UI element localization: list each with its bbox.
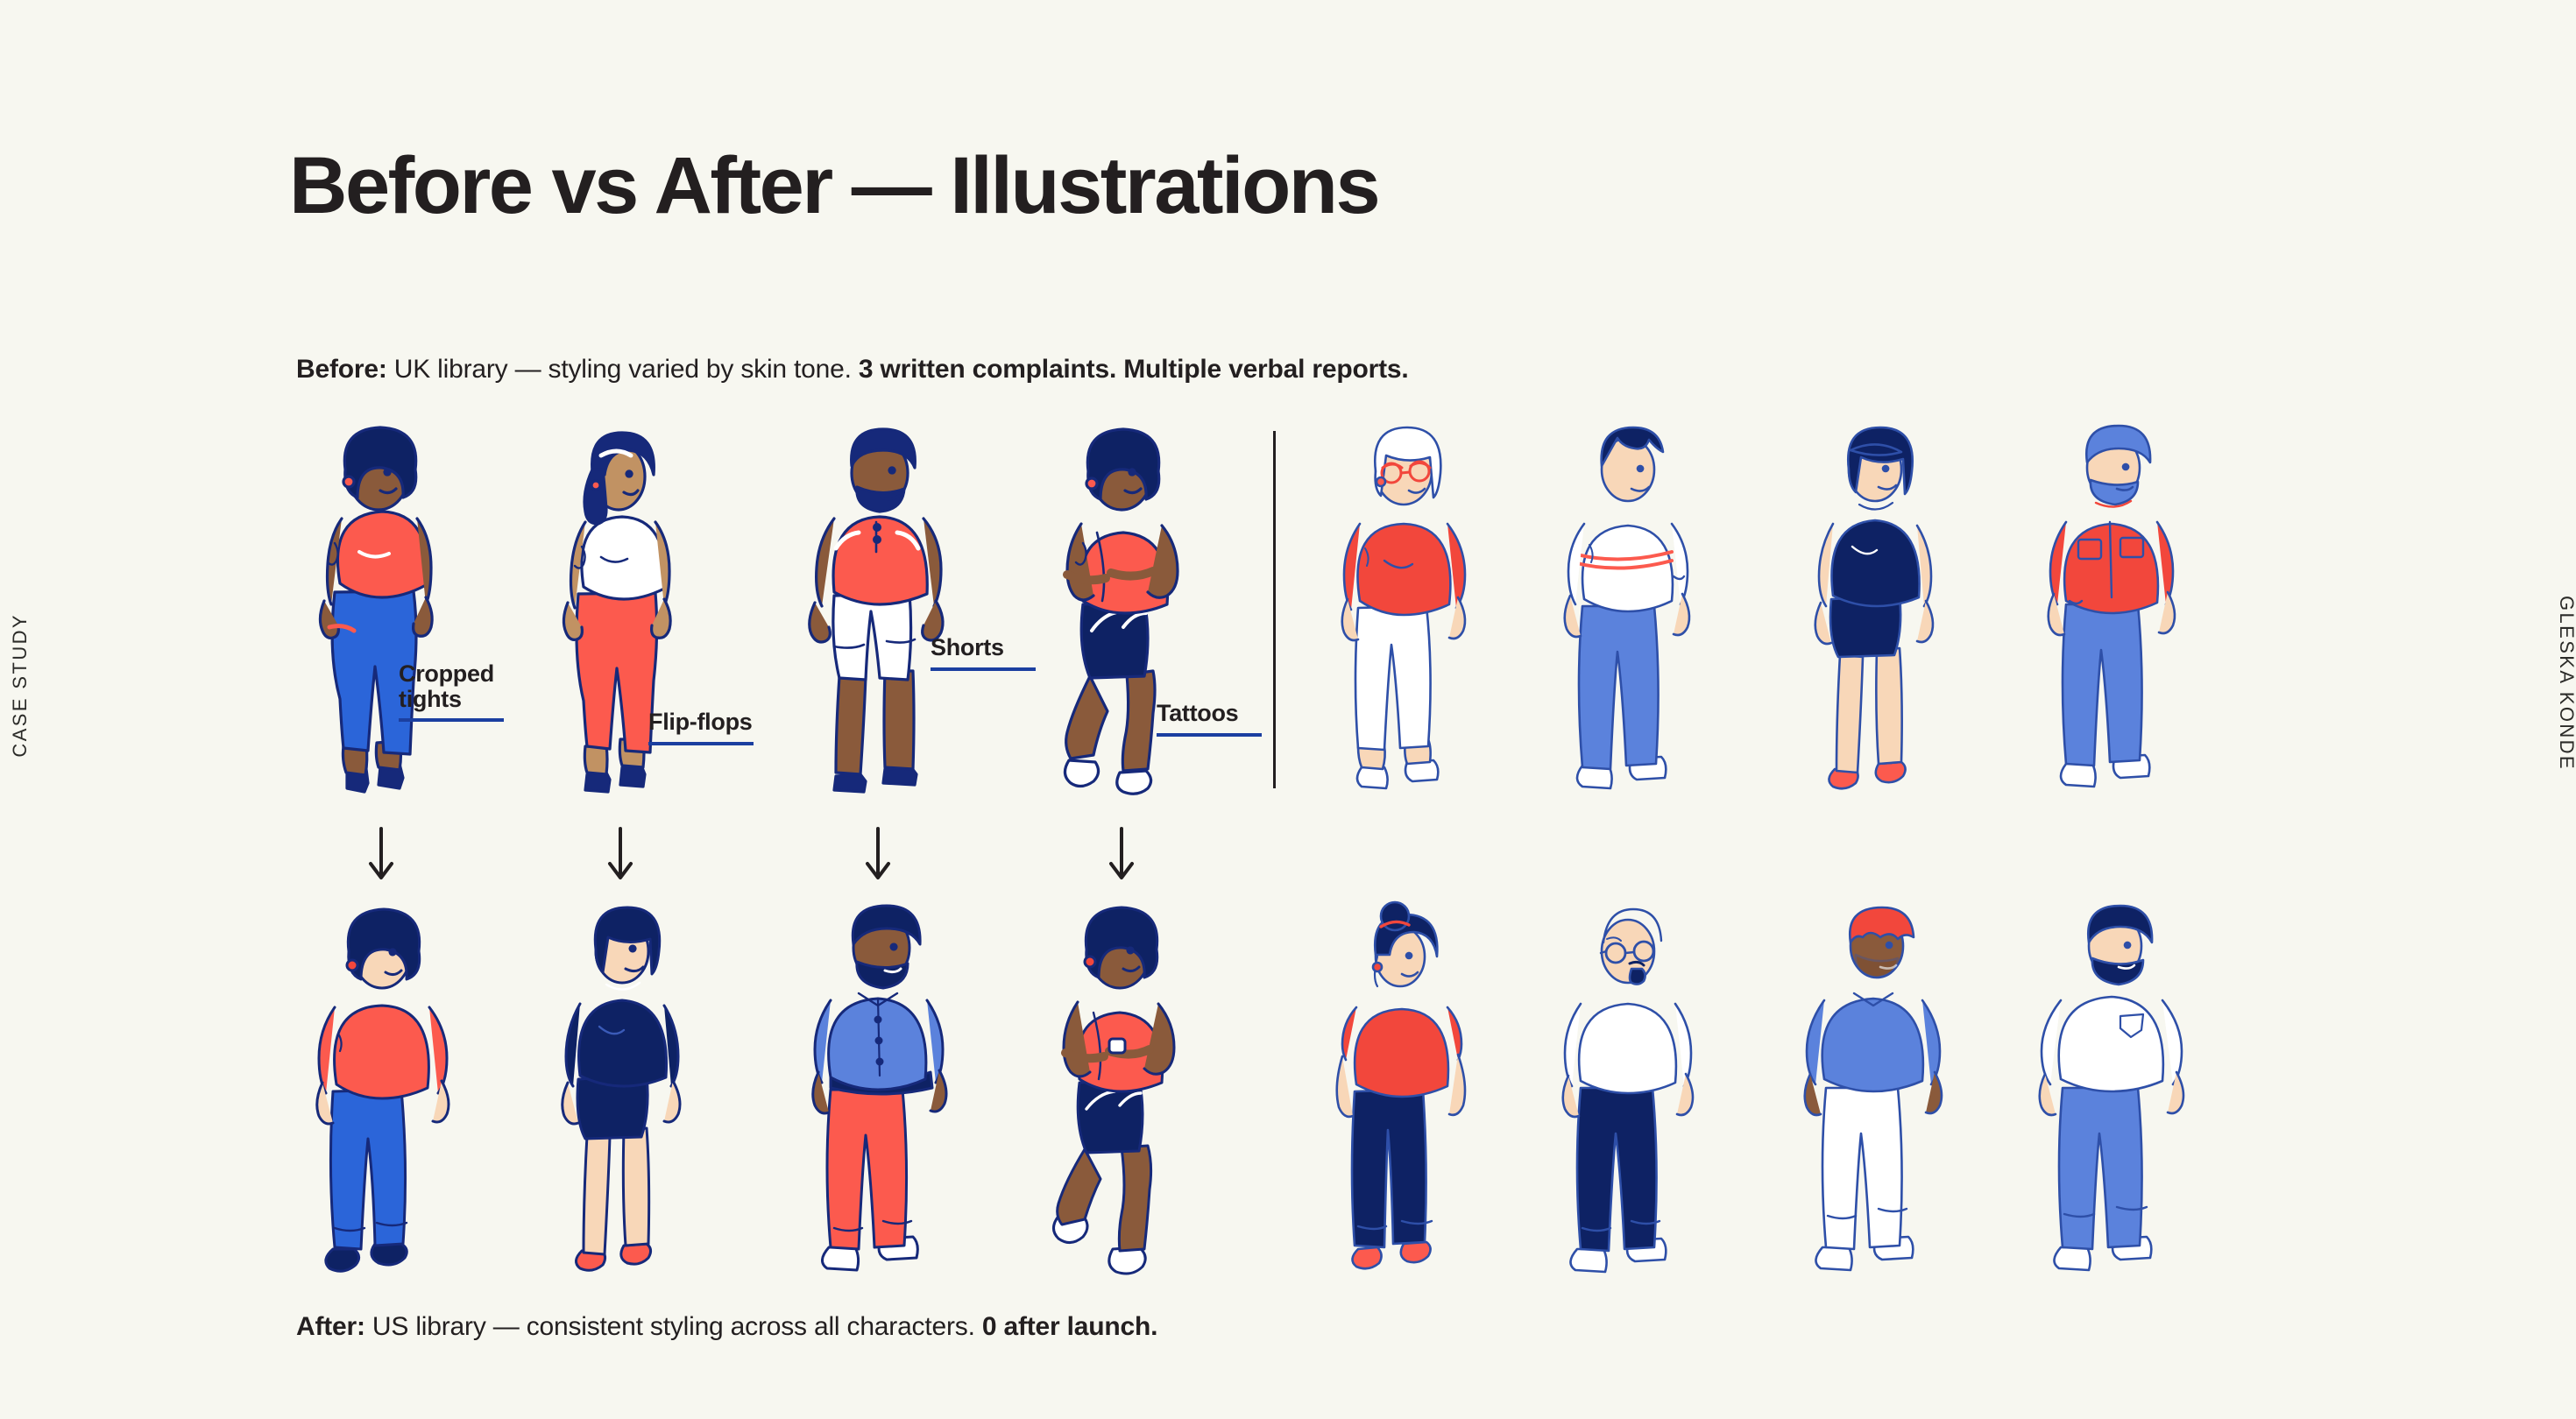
figure-b7[interactable] <box>1779 420 1980 797</box>
annotation-tattoos: Tattoos <box>1157 701 1262 737</box>
annotation-label: Cropped tights <box>399 660 494 712</box>
after-row <box>289 902 2269 1279</box>
figure-a6[interactable] <box>1533 902 1735 1279</box>
figure-b1[interactable] <box>289 420 491 797</box>
caption-after: After: US library — consistent styling a… <box>296 1312 1157 1342</box>
illustration-stage: Cropped tights Flip-flops Shorts Tattoos <box>0 0 2576 1419</box>
caption-after-emphasis: 0 after launch. <box>982 1312 1157 1341</box>
annotation-rule <box>931 667 1036 671</box>
figure-b6[interactable] <box>1533 420 1735 797</box>
figure-b4[interactable] <box>1029 420 1230 797</box>
annotation-label: Flip-flops <box>648 709 752 735</box>
annotation-cropped-tights: Cropped tights <box>399 661 504 722</box>
figure-a3[interactable] <box>785 902 987 1279</box>
caption-after-label: After: <box>296 1312 365 1341</box>
annotation-rule <box>1157 733 1262 737</box>
transition-arrows <box>289 823 1341 893</box>
down-arrow-icon <box>364 823 399 885</box>
down-arrow-icon <box>603 823 638 885</box>
down-arrow-icon <box>860 823 895 885</box>
figure-b5[interactable] <box>1307 420 1509 797</box>
figure-a5[interactable] <box>1307 902 1509 1279</box>
figure-a8[interactable] <box>2017 902 2219 1279</box>
before-row <box>289 420 2269 797</box>
annotation-rule <box>399 718 504 722</box>
figure-a2[interactable] <box>527 902 729 1279</box>
annotation-shorts: Shorts <box>931 635 1036 671</box>
annotation-rule <box>648 742 754 745</box>
annotation-flip-flops: Flip-flops <box>648 709 754 745</box>
figure-a1[interactable] <box>289 902 491 1279</box>
figure-a7[interactable] <box>1779 902 1980 1279</box>
figure-a4[interactable] <box>1029 902 1230 1279</box>
down-arrow-icon <box>1104 823 1139 885</box>
figure-b3[interactable] <box>785 420 987 797</box>
annotation-label: Tattoos <box>1157 700 1238 726</box>
annotation-label: Shorts <box>931 634 1004 660</box>
figure-b8[interactable] <box>2017 420 2219 797</box>
caption-after-text: US library — consistent styling across a… <box>365 1312 982 1341</box>
